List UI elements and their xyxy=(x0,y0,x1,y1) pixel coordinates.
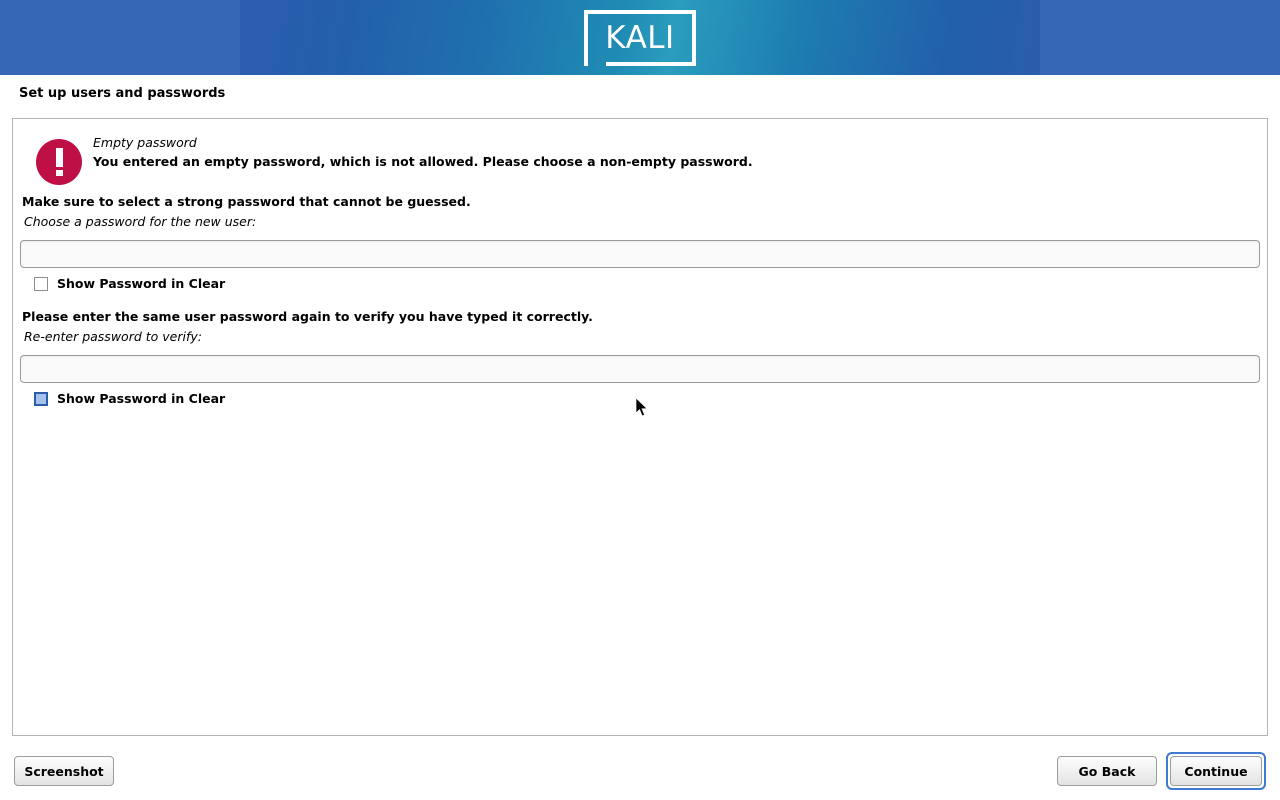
page-title: Set up users and passwords xyxy=(19,86,225,101)
exclamation-dot xyxy=(56,170,63,176)
show-password-label-2: Show Password in Clear xyxy=(57,391,225,406)
error-message: You entered an empty password, which is … xyxy=(93,154,753,169)
password-strength-hint: Make sure to select a strong password th… xyxy=(22,194,471,209)
verify-field-label: Re-enter password to verify: xyxy=(24,329,202,344)
password-input[interactable] xyxy=(20,240,1260,268)
verify-password-input[interactable] xyxy=(20,355,1260,383)
continue-button[interactable]: Continue xyxy=(1170,756,1262,786)
logo-wordmark: KALI xyxy=(584,10,696,66)
show-password-checkbox-2[interactable] xyxy=(34,392,48,406)
error-banner: Empty password You entered an empty pass… xyxy=(22,126,1252,188)
kali-logo: KALI xyxy=(584,10,696,66)
verify-password-hint: Please enter the same user password agai… xyxy=(22,309,593,324)
show-password-checkbox-1[interactable] xyxy=(34,277,48,291)
error-title: Empty password xyxy=(93,135,197,150)
mouse-cursor xyxy=(636,398,648,417)
content-panel: Empty password You entered an empty pass… xyxy=(12,118,1268,736)
kali-banner: KALI xyxy=(0,0,1280,75)
go-back-button[interactable]: Go Back xyxy=(1057,756,1157,786)
password-field-label: Choose a password for the new user: xyxy=(24,214,256,229)
installer-screen: KALI Set up users and passwords Empty pa… xyxy=(0,0,1280,800)
screenshot-button[interactable]: Screenshot xyxy=(14,756,114,786)
show-password-label-1: Show Password in Clear xyxy=(57,276,225,291)
exclamation-bar xyxy=(56,148,63,167)
error-exclamation-icon xyxy=(36,139,82,185)
continue-button-focus-ring[interactable]: Continue xyxy=(1166,752,1266,790)
